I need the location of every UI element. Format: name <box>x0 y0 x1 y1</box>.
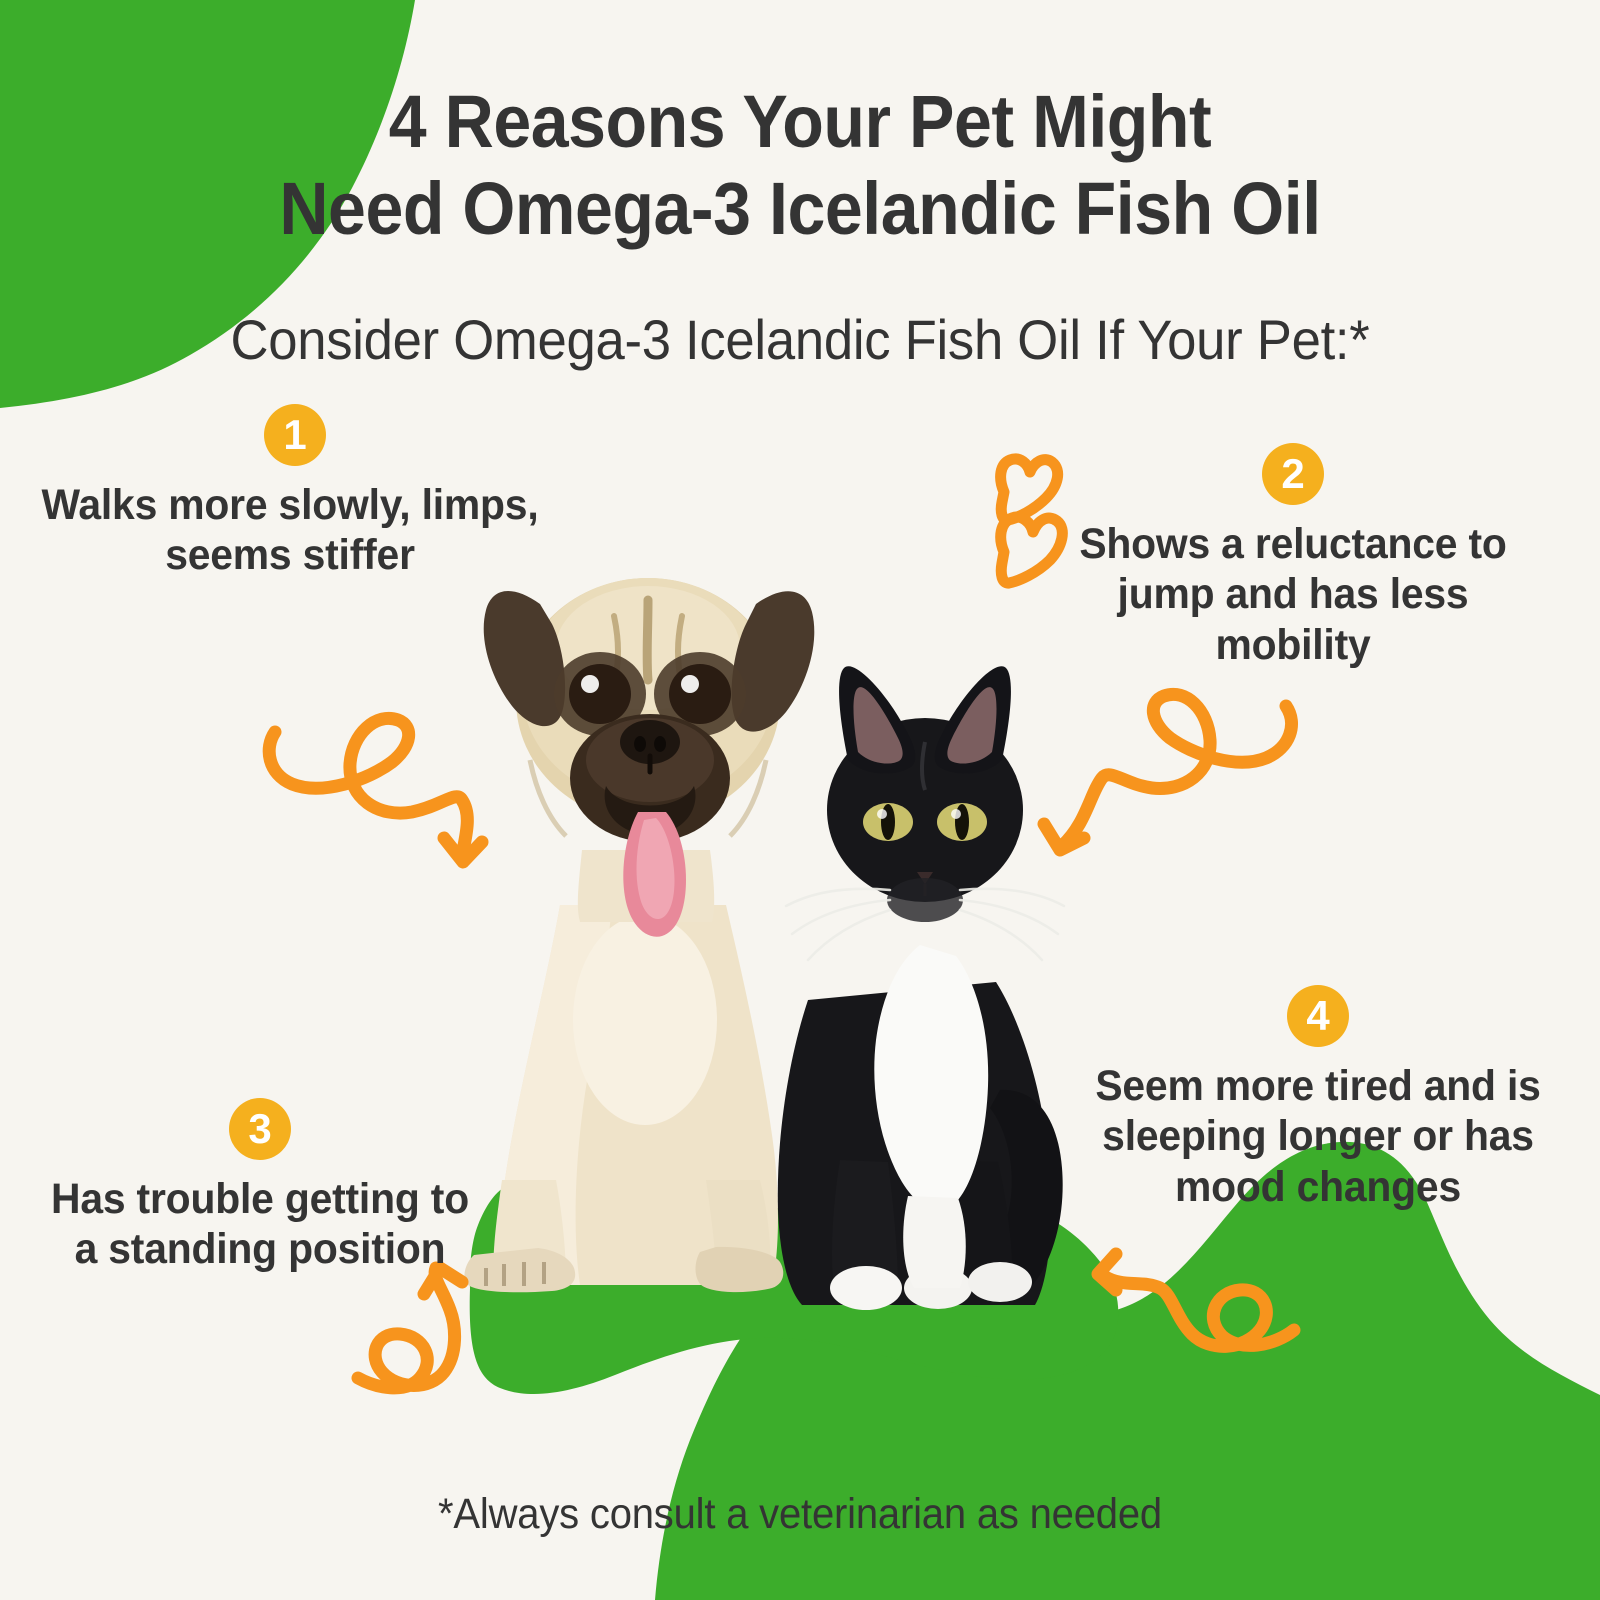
reason-item-2: 2 Shows a reluctance to jump and has les… <box>1058 443 1528 670</box>
page-subtitle: Consider Omega-3 Icelandic Fish Oil If Y… <box>48 307 1552 372</box>
reason-badge-2: 2 <box>1262 443 1324 505</box>
reason-item-3: 3 Has trouble getting to a standing posi… <box>35 1098 485 1275</box>
headline-line-2: Need Omega-3 Icelandic Fish Oil <box>64 165 1536 252</box>
reason-item-1: 1 Walks more slowly, limps, seems stiffe… <box>20 404 560 581</box>
disclaimer-footnote: *Always consult a veterinarian as needed <box>56 1490 1544 1539</box>
reason-badge-3: 3 <box>229 1098 291 1160</box>
infographic-canvas: 4 Reasons Your Pet Might Need Omega-3 Ic… <box>0 0 1600 1600</box>
page-title: 4 Reasons Your Pet Might Need Omega-3 Ic… <box>64 78 1536 253</box>
reason-text-4: Seem more tired and is sleeping longer o… <box>1085 1061 1551 1212</box>
headline-line-1: 4 Reasons Your Pet Might <box>389 80 1211 163</box>
text-content-layer: 4 Reasons Your Pet Might Need Omega-3 Ic… <box>0 0 1600 1600</box>
reason-text-2: Shows a reluctance to jump and has less … <box>1070 519 1517 670</box>
reason-item-4: 4 Seem more tired and is sleeping longer… <box>1073 985 1563 1212</box>
reason-text-1: Walks more slowly, limps, seems stiffer <box>34 480 547 581</box>
reason-badge-4: 4 <box>1287 985 1349 1047</box>
reason-badge-1: 1 <box>264 404 326 466</box>
reason-text-3: Has trouble getting to a standing positi… <box>46 1174 474 1275</box>
